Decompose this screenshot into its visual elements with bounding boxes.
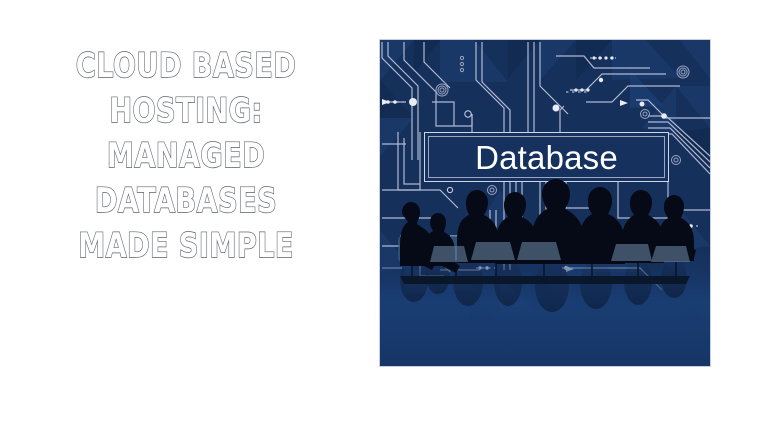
- slide-canvas: CLOUD BASED HOSTING: MANAGED DATABASES M…: [0, 0, 768, 432]
- database-image: Database: [380, 40, 710, 366]
- headline-line-2: HOSTING:: [37, 89, 335, 134]
- headline-line-5: MADE SIMPLE: [37, 224, 335, 269]
- headline-line-4: DATABASES: [37, 179, 335, 224]
- headline-line-3: MANAGED: [37, 134, 335, 179]
- headline-line-1: CLOUD BASED: [37, 44, 335, 89]
- boardroom-silhouettes: [380, 40, 710, 366]
- page-title: CLOUD BASED HOSTING: MANAGED DATABASES M…: [0, 44, 372, 269]
